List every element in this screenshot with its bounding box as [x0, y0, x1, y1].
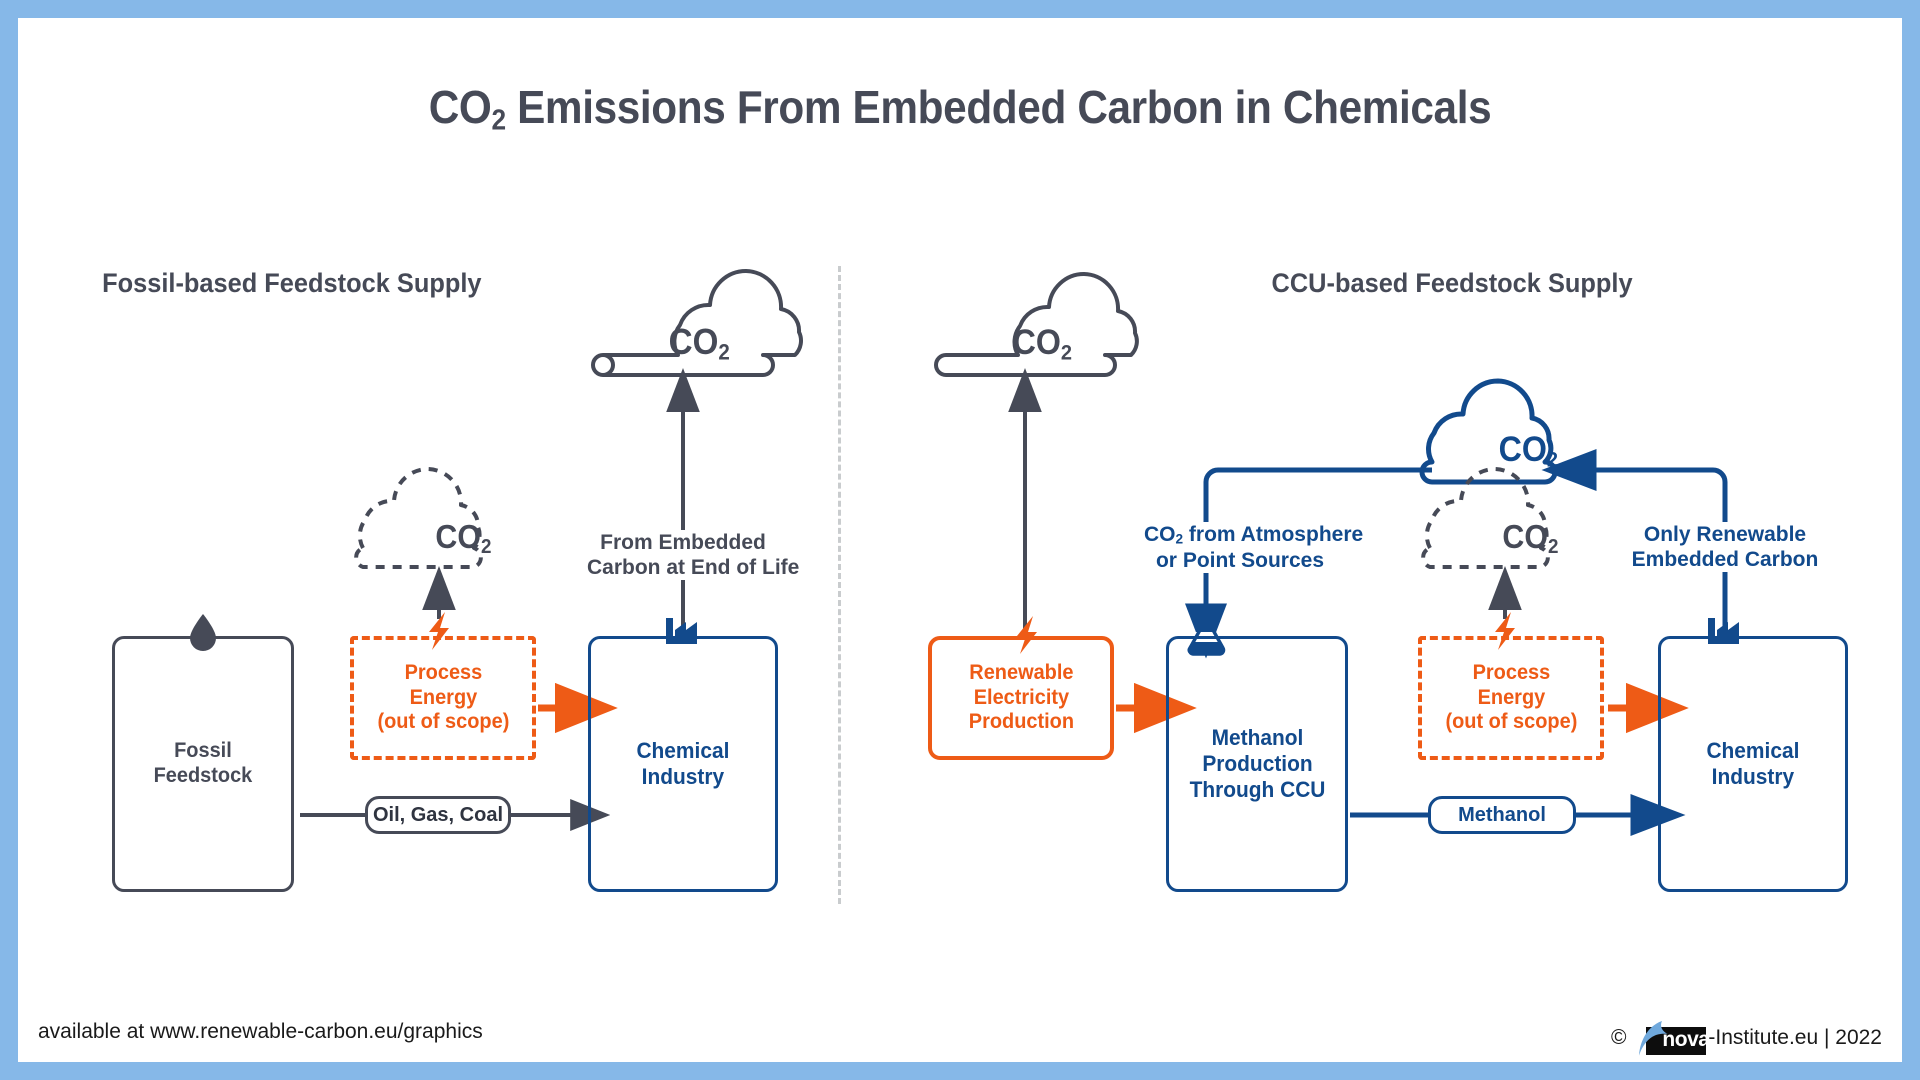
- chemical-industry-box-right[interactable]: Chemical Industry: [1658, 636, 1848, 892]
- graphic-page: CO2 Emissions From Embedded Carbon in Ch…: [18, 18, 1902, 1062]
- renewable-electricity-line3: Production: [968, 710, 1073, 733]
- footer-availability: available at www.renewable-carbon.eu/gra…: [38, 1020, 483, 1044]
- chemical-industry-right-line2: Industry: [1712, 764, 1794, 789]
- nova-logo-text: nova: [1662, 1028, 1709, 1052]
- co2-source-label: CO2 from Atmosphere or Point Sources: [1140, 522, 1340, 573]
- footer-copyright: © nova -Institute.eu | 2022: [1611, 1018, 1882, 1058]
- renewable-electricity-box[interactable]: Renewable Electricity Production: [928, 636, 1114, 760]
- chemical-industry-right-line1: Chemical: [1707, 738, 1800, 763]
- process-energy-left-line1: Process: [404, 661, 482, 684]
- renewable-electricity-line1: Renewable: [969, 661, 1073, 684]
- process-energy-right-line3: (out of scope): [1445, 710, 1577, 733]
- process-energy-box-left[interactable]: Process Energy (out of scope): [350, 636, 536, 760]
- methanol-production-line2: Production: [1202, 751, 1312, 776]
- embedded-carbon-label: From Embedded Carbon at End of Life: [583, 530, 783, 580]
- methanol-production-box[interactable]: Methanol Production Through CCU: [1166, 636, 1348, 892]
- embedded-carbon-line2: Carbon at End of Life: [583, 555, 803, 580]
- process-energy-left-line3: (out of scope): [377, 710, 509, 733]
- feedstock-pill[interactable]: Oil, Gas, Coal: [365, 796, 511, 834]
- methanol-production-line3: Through CCU: [1189, 777, 1325, 802]
- chemical-industry-left-line2: Industry: [642, 764, 724, 789]
- renewable-electricity-line2: Electricity: [973, 686, 1068, 709]
- copyright-symbol: ©: [1611, 1026, 1626, 1050]
- methanol-production-line1: Methanol: [1211, 725, 1303, 750]
- process-energy-right-line1: Process: [1472, 661, 1550, 684]
- methanol-pill[interactable]: Methanol: [1428, 796, 1576, 834]
- fossil-feedstock-line2: Feedstock: [154, 764, 253, 787]
- renewable-carbon-line2: Embedded Carbon: [1628, 547, 1823, 572]
- process-energy-box-right[interactable]: Process Energy (out of scope): [1418, 636, 1604, 760]
- chemical-industry-left-line1: Chemical: [637, 738, 730, 763]
- embedded-carbon-line1: From Embedded: [596, 530, 770, 555]
- diagram-vector-layer: [18, 18, 1902, 1062]
- footer-institute-text: -Institute.eu | 2022: [1708, 1026, 1882, 1050]
- fossil-feedstock-box[interactable]: Fossil Feedstock: [112, 636, 294, 892]
- co2-source-line2: or Point Sources: [1152, 548, 1328, 573]
- renewable-carbon-label: Only Renewable Embedded Carbon: [1625, 522, 1825, 572]
- fossil-feedstock-line1: Fossil: [174, 739, 232, 762]
- process-energy-left-line2: Energy: [409, 686, 477, 709]
- chemical-industry-box-left[interactable]: Chemical Industry: [588, 636, 778, 892]
- nova-logo: nova: [1632, 1018, 1706, 1058]
- process-energy-right-line2: Energy: [1477, 686, 1545, 709]
- co2-source-line1: CO2 from Atmosphere: [1140, 522, 1367, 548]
- renewable-carbon-line1: Only Renewable: [1640, 522, 1810, 547]
